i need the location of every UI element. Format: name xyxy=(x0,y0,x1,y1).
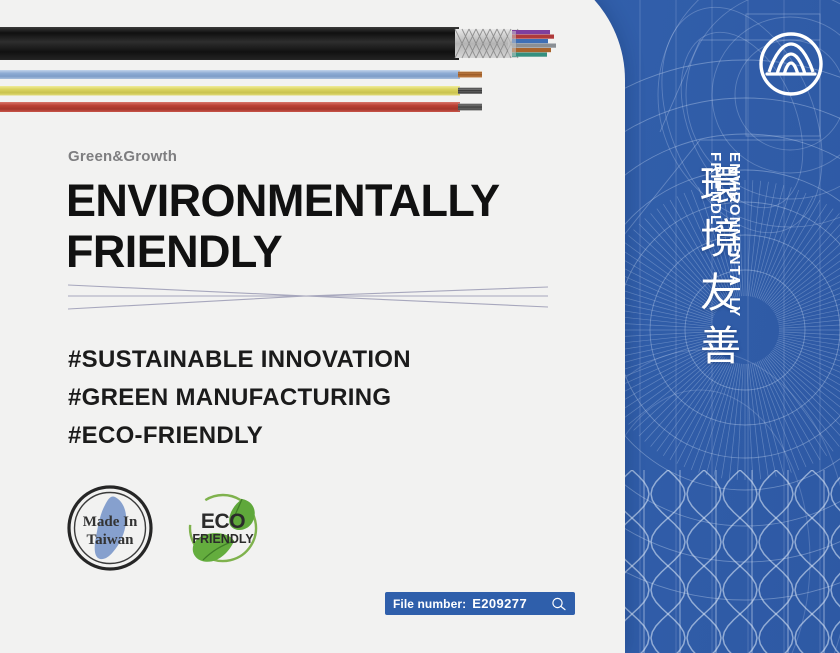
headline-line-2: FRIENDLY xyxy=(66,227,586,278)
hashtag-item: #GREEN MANUFACTURING xyxy=(68,379,411,417)
file-number-label: File number: xyxy=(393,597,466,611)
chinese-char: 善 xyxy=(700,320,741,373)
english-vertical-line-2: FRIENDLY xyxy=(706,152,725,318)
eco-line-2: FRIENDLY xyxy=(192,532,254,546)
english-vertical-text: ENVIRONMENTALLY FRIENDLY xyxy=(706,152,744,318)
page-title: ENVIRONMENTALLY FRIENDLY xyxy=(66,176,586,278)
company-emblem-icon xyxy=(757,30,825,98)
eyebrow-text: Green&Growth xyxy=(68,148,177,165)
made-in-taiwan-badge: Made In Taiwan xyxy=(66,484,154,572)
eco-friendly-badge: ECO FRIENDLY xyxy=(182,487,264,569)
hashtag-list: #SUSTAINABLE INNOVATION #GREEN MANUFACTU… xyxy=(68,341,411,455)
cable-illustration xyxy=(0,0,560,130)
badge-line-1: Made In xyxy=(83,514,138,530)
eco-line-1: ECO xyxy=(201,510,245,533)
hashtag-item: #ECO-FRIENDLY xyxy=(68,417,411,455)
file-number-value: E209277 xyxy=(472,596,527,611)
hashtag-item: #SUSTAINABLE INNOVATION xyxy=(68,341,411,379)
badge-line-2: Taiwan xyxy=(87,532,135,548)
file-number-bar[interactable]: File number: E209277 xyxy=(385,592,575,615)
certification-badges: Made In Taiwan ECO FRIENDLY xyxy=(66,484,264,572)
english-vertical-line-1: ENVIRONMENTALLY xyxy=(725,152,744,318)
headline-line-1: ENVIRONMENTALLY xyxy=(66,176,586,227)
poster-canvas: Green&Growth ENVIRONMENTALLY FRIENDLY #S… xyxy=(0,0,840,653)
decorative-divider xyxy=(66,276,550,320)
magnifier-icon[interactable] xyxy=(551,597,567,611)
